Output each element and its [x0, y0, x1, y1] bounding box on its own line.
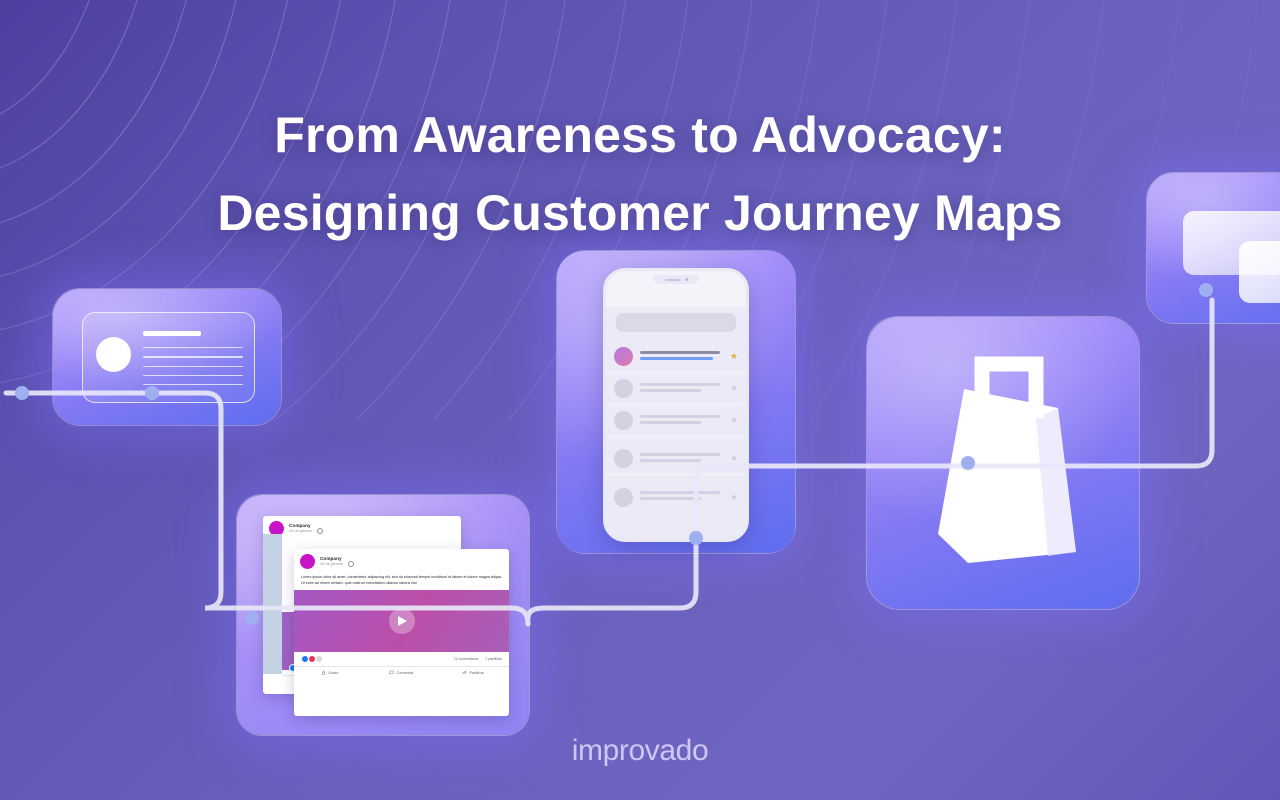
hero-banner: From Awareness to Advocacy: Designing Cu…: [0, 0, 1280, 800]
avatar: [614, 347, 633, 366]
list-item[interactable]: ★: [606, 341, 746, 373]
list-item[interactable]: ★: [606, 443, 746, 475]
post-video-thumbnail[interactable]: [294, 590, 509, 652]
phone-status-bar: [606, 271, 746, 307]
share-button[interactable]: Partilhar: [437, 667, 509, 678]
phone-notch: [653, 275, 699, 284]
list-item[interactable]: ★: [606, 405, 746, 437]
post-stats: 12 comentários 2 partilhas: [294, 652, 509, 667]
like-button[interactable]: Gosto: [294, 667, 366, 678]
title-line-2: Designing Customer Journey Maps: [0, 174, 1280, 252]
list-item-text: [640, 351, 727, 363]
star-icon[interactable]: ★: [730, 492, 738, 503]
globe-icon: [348, 561, 354, 567]
list-item[interactable]: ★: [606, 373, 746, 405]
star-icon[interactable]: ★: [730, 351, 738, 362]
post-date: 28 de janeiro ·: [289, 528, 323, 534]
phone-screen: ★ ★ ★ ★: [606, 271, 746, 539]
comment-count[interactable]: 12 comentários: [454, 657, 479, 661]
avatar: [614, 379, 633, 398]
play-icon[interactable]: [389, 608, 415, 634]
list-item-text: [640, 415, 727, 427]
avatar: [614, 449, 633, 468]
social-post-card-front[interactable]: Company 28 de janeiro · Lorem ipsum dolo…: [294, 549, 509, 716]
profile-card-node[interactable]: [52, 288, 282, 426]
comment-icon: [389, 670, 394, 675]
avatar: [300, 554, 315, 569]
avatar: [614, 488, 633, 507]
mobile-app-node[interactable]: ★ ★ ★ ★: [556, 250, 796, 554]
post-stack: Company 28 de janeiro ·: [263, 516, 511, 716]
star-icon[interactable]: ★: [730, 383, 738, 394]
list-item-text: [640, 491, 727, 503]
star-icon[interactable]: ★: [730, 453, 738, 464]
post-header: Company 28 de janeiro ·: [294, 549, 509, 572]
star-icon[interactable]: ★: [730, 415, 738, 426]
list-item-text: [640, 383, 727, 395]
post-header: Company 28 de janeiro ·: [263, 516, 461, 539]
thumbs-up-icon: [321, 670, 326, 675]
avatar: [614, 411, 633, 430]
globe-icon: [317, 528, 323, 534]
share-count[interactable]: 2 partilhas: [485, 657, 502, 661]
share-icon: [462, 670, 467, 675]
profile-card-inner: [82, 312, 255, 403]
post-actions: Gosto Comentar Partilhar: [294, 667, 509, 678]
social-post-node[interactable]: Company 28 de janeiro ·: [236, 494, 530, 736]
post-body: Lorem ipsum dolor sit amet, consectetur …: [294, 572, 509, 590]
page-title: From Awareness to Advocacy: Designing Cu…: [0, 96, 1280, 252]
post-sidebar: [263, 534, 282, 674]
connector-dot: [15, 386, 29, 400]
list-item[interactable]: ★: [606, 481, 746, 513]
post-date: 28 de janeiro ·: [320, 561, 354, 567]
shopping-bag-icon: [867, 317, 1139, 609]
comment-button[interactable]: Comentar: [366, 667, 438, 678]
list-item-text: [640, 453, 727, 465]
avatar: [96, 337, 131, 372]
title-line-1: From Awareness to Advocacy:: [274, 107, 1006, 163]
wow-icon: [315, 655, 323, 663]
post-reactions[interactable]: [301, 655, 323, 663]
improvado-logo: improvado: [0, 734, 1280, 768]
profile-text-lines: [143, 331, 243, 393]
purchase-node[interactable]: [866, 316, 1140, 610]
search-input[interactable]: [616, 313, 736, 332]
phone-mockup: ★ ★ ★ ★: [603, 268, 749, 542]
